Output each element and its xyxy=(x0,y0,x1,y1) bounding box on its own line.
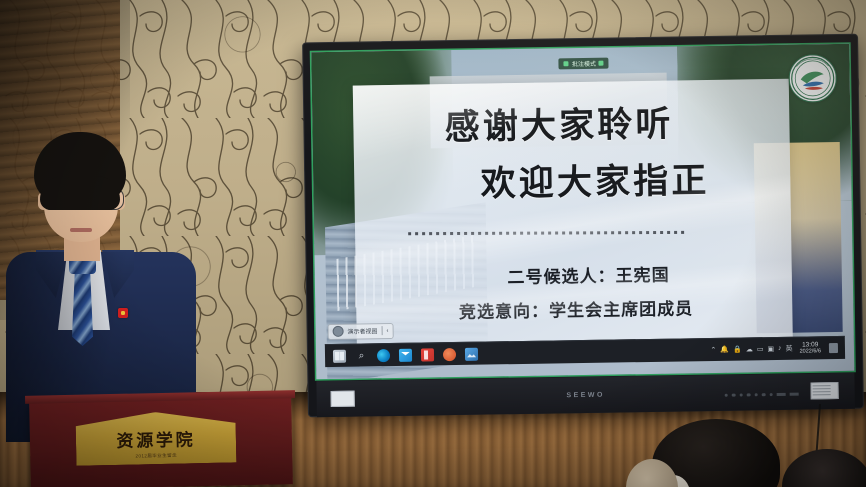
presenter-icon xyxy=(332,326,343,337)
podium-plate-text: 资源学院 xyxy=(116,425,195,452)
taskbar-clock[interactable]: 13:09 2022/6/6 xyxy=(799,342,821,355)
annotation-toolbar-label: 批注模式 xyxy=(572,59,596,68)
presenter-view-pill[interactable]: 演示者视图 ‹ xyxy=(327,323,393,340)
tray-overflow-icon[interactable]: ⌃ xyxy=(710,346,716,354)
tv-spec-label xyxy=(331,391,355,407)
tv-rating-sticker xyxy=(810,382,838,399)
slide-subtitle-line-1: 二号候选人：王宪国 xyxy=(507,261,670,289)
tv-screen[interactable]: 批注模式 感谢大家聆听 欢迎大家指正 二号候选人：王宪国 竞选意向：学生会主席团… xyxy=(311,44,854,379)
pen-icon[interactable] xyxy=(564,62,569,67)
powerpoint-icon[interactable] xyxy=(443,348,456,361)
volume-icon[interactable]: ▣ xyxy=(767,345,774,353)
mail-icon[interactable] xyxy=(399,348,412,361)
presenter-view-label: 演示者视图 xyxy=(347,327,377,336)
action-center-icon[interactable] xyxy=(829,343,838,353)
slide-title-line-2: 欢迎大家指正 xyxy=(480,163,709,202)
annotation-toolbar[interactable]: 批注模式 xyxy=(559,58,609,70)
security-icon[interactable]: 🔒 xyxy=(733,346,742,354)
tv-brand-label: SEEWO xyxy=(566,391,604,399)
cloud-icon[interactable]: ☁ xyxy=(746,345,753,353)
edge-icon[interactable] xyxy=(377,349,390,362)
hair xyxy=(34,132,126,204)
speaker-person xyxy=(6,132,196,432)
university-seal-icon xyxy=(788,54,837,103)
slide-dotted-divider xyxy=(408,230,685,235)
pill-divider xyxy=(381,326,382,335)
slide-subtitle-line-2: 竞选意向：学生会主席团成员 xyxy=(459,295,694,324)
tv-port-row xyxy=(724,392,799,397)
interactive-flat-panel-display[interactable]: 批注模式 感谢大家聆听 欢迎大家指正 二号候选人：王宪国 竞选意向：学生会主席团… xyxy=(302,34,864,418)
notification-bell-icon[interactable]: 🔔 xyxy=(720,346,729,354)
ime-language-icon[interactable]: 英 xyxy=(785,344,792,354)
start-button[interactable] xyxy=(333,349,346,362)
chevron-left-icon[interactable]: ‹ xyxy=(386,328,388,334)
eraser-icon[interactable] xyxy=(599,61,604,66)
mouth xyxy=(70,228,92,232)
search-icon[interactable]: ⌕ xyxy=(355,349,368,362)
presentation-slide: 感谢大家聆听 欢迎大家指正 二号候选人：王宪国 竞选意向：学生会主席团成员 xyxy=(353,79,793,347)
music-icon[interactable]: ♪ xyxy=(778,345,782,352)
slide-title-line-1: 感谢大家聆听 xyxy=(444,107,673,146)
photos-icon[interactable] xyxy=(465,347,478,360)
office-icon[interactable] xyxy=(421,348,434,361)
presentation-scene: 批注模式 感谢大家聆听 欢迎大家指正 二号候选人：王宪国 竞选意向：学生会主席团… xyxy=(0,0,866,487)
network-icon[interactable]: ▭ xyxy=(757,345,764,353)
lectern-podium: 资源学院 2012届毕业生留念 xyxy=(29,395,293,487)
clock-date: 2022/6/6 xyxy=(800,349,822,355)
podium-plate-subtext: 2012届毕业生留念 xyxy=(135,453,177,460)
